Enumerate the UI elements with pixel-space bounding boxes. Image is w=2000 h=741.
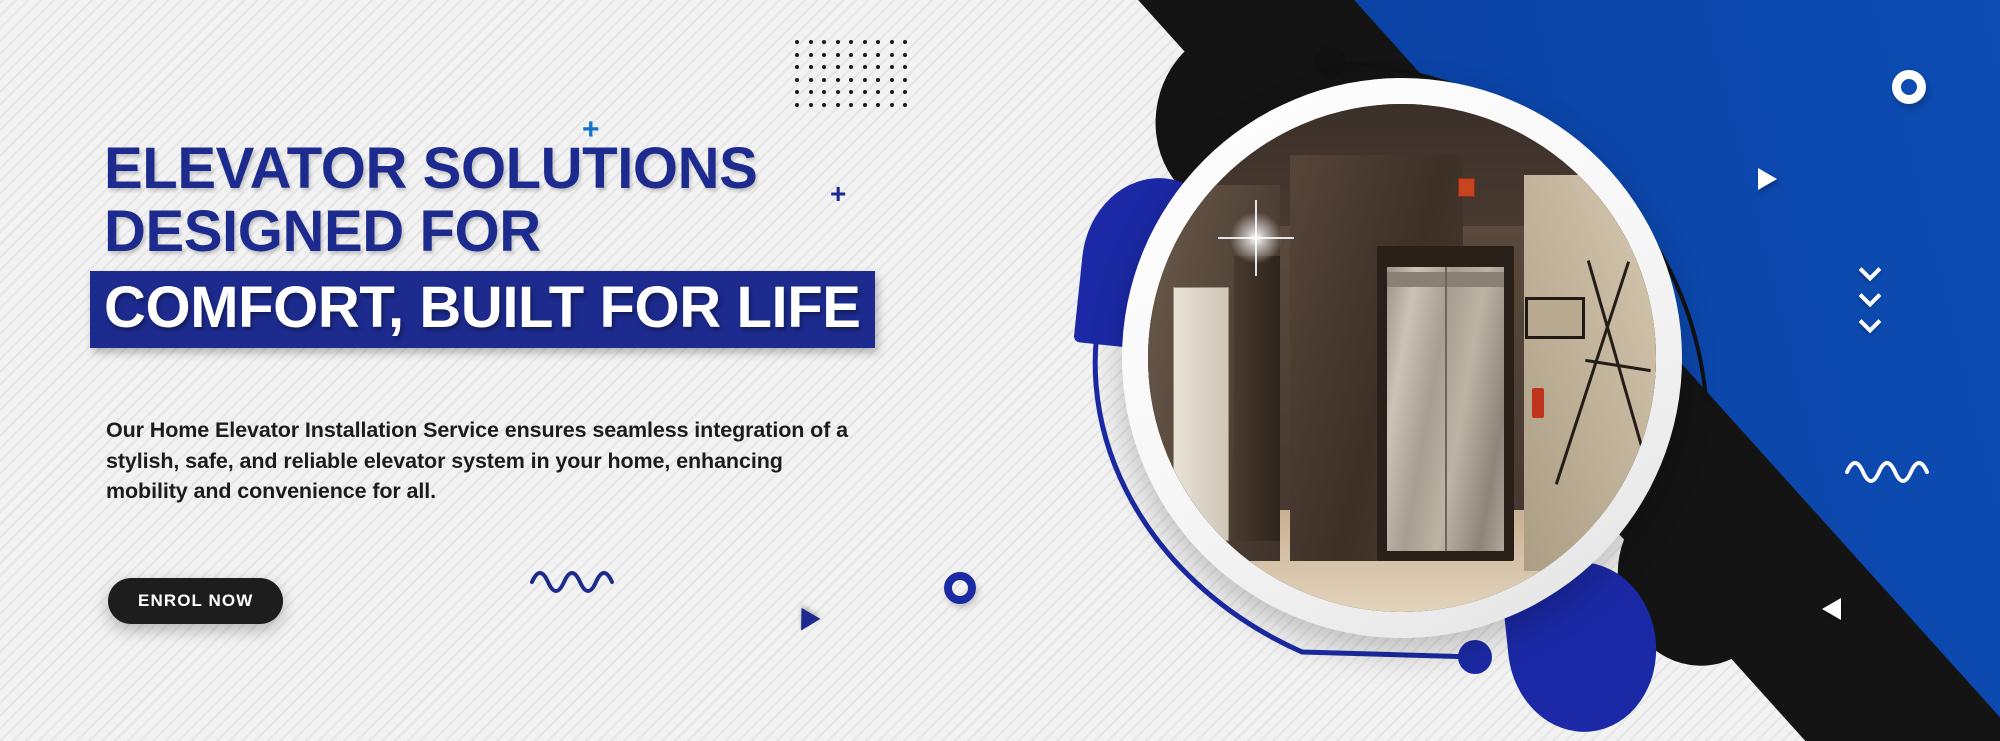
wave-icon-white xyxy=(1845,450,1945,486)
dot xyxy=(863,65,867,69)
dot xyxy=(890,90,894,94)
dot xyxy=(822,53,826,57)
dot xyxy=(822,40,826,44)
scene-ceiling-light xyxy=(1229,211,1283,265)
dot xyxy=(836,103,840,107)
dot xyxy=(795,103,799,107)
dot xyxy=(863,53,867,57)
dot xyxy=(903,90,907,94)
elevator-photo xyxy=(1148,104,1656,612)
dot xyxy=(795,53,799,57)
dot xyxy=(903,65,907,69)
elevator-scene xyxy=(1148,104,1656,612)
dot xyxy=(809,90,813,94)
hero-banner: + + ELEVATOR SOLUTIONS DESIGNED FOR COMF… xyxy=(0,0,2000,741)
dot xyxy=(822,78,826,82)
dot xyxy=(849,90,853,94)
dot xyxy=(903,40,907,44)
dot xyxy=(849,40,853,44)
description-paragraph: Our Home Elevator Installation Service e… xyxy=(106,415,866,507)
scene-left-door xyxy=(1173,287,1229,541)
dot xyxy=(876,53,880,57)
dot xyxy=(876,65,880,69)
scene-indicator-light xyxy=(1458,178,1475,197)
photo-ring xyxy=(1122,78,1682,638)
dot xyxy=(863,90,867,94)
headline-line-3-highlight: COMFORT, BUILT FOR LIFE xyxy=(90,271,875,348)
copy-block: ELEVATOR SOLUTIONS DESIGNED FOR COMFORT,… xyxy=(104,138,944,348)
dot xyxy=(836,65,840,69)
dot xyxy=(809,78,813,82)
dot xyxy=(836,53,840,57)
dot xyxy=(863,40,867,44)
dot xyxy=(809,40,813,44)
dot xyxy=(795,78,799,82)
dot xyxy=(795,65,799,69)
dot xyxy=(822,103,826,107)
dot xyxy=(890,103,894,107)
dot xyxy=(849,103,853,107)
dot xyxy=(836,78,840,82)
scene-struts xyxy=(1585,256,1651,490)
headline-line-2: DESIGNED FOR xyxy=(104,201,944,264)
wave-icon-navy xyxy=(530,560,630,596)
dot xyxy=(809,103,813,107)
scene-wall-frame xyxy=(1525,297,1585,339)
headline-line-1: ELEVATOR SOLUTIONS xyxy=(104,138,944,201)
dot xyxy=(876,78,880,82)
dot xyxy=(822,90,826,94)
dot xyxy=(903,103,907,107)
dot xyxy=(876,90,880,94)
dot xyxy=(903,53,907,57)
dot xyxy=(836,40,840,44)
ring-icon-blue xyxy=(944,572,976,604)
dot xyxy=(890,78,894,82)
dot xyxy=(876,103,880,107)
enrol-now-button[interactable]: ENROL NOW xyxy=(108,578,283,624)
dot xyxy=(795,40,799,44)
dot xyxy=(849,65,853,69)
dot xyxy=(876,40,880,44)
scene-call-panel xyxy=(1532,388,1544,418)
dot xyxy=(863,78,867,82)
dot xyxy=(849,78,853,82)
triangle-icon-white-bottom xyxy=(1822,598,1841,620)
dot xyxy=(903,78,907,82)
dot xyxy=(809,65,813,69)
page-title: ELEVATOR SOLUTIONS DESIGNED FOR COMFORT,… xyxy=(104,138,944,348)
dot xyxy=(836,90,840,94)
scene-left-door-dark xyxy=(1234,256,1280,540)
dot xyxy=(809,53,813,57)
dot xyxy=(890,53,894,57)
dot-grid-icon xyxy=(795,40,913,110)
dot xyxy=(890,65,894,69)
scene-door-split xyxy=(1445,267,1447,551)
dot xyxy=(795,90,799,94)
ring-icon-white xyxy=(1892,70,1926,104)
dot xyxy=(890,40,894,44)
dot xyxy=(863,103,867,107)
dot xyxy=(849,53,853,57)
dot xyxy=(822,65,826,69)
triangle-icon-white-top xyxy=(1758,168,1777,190)
